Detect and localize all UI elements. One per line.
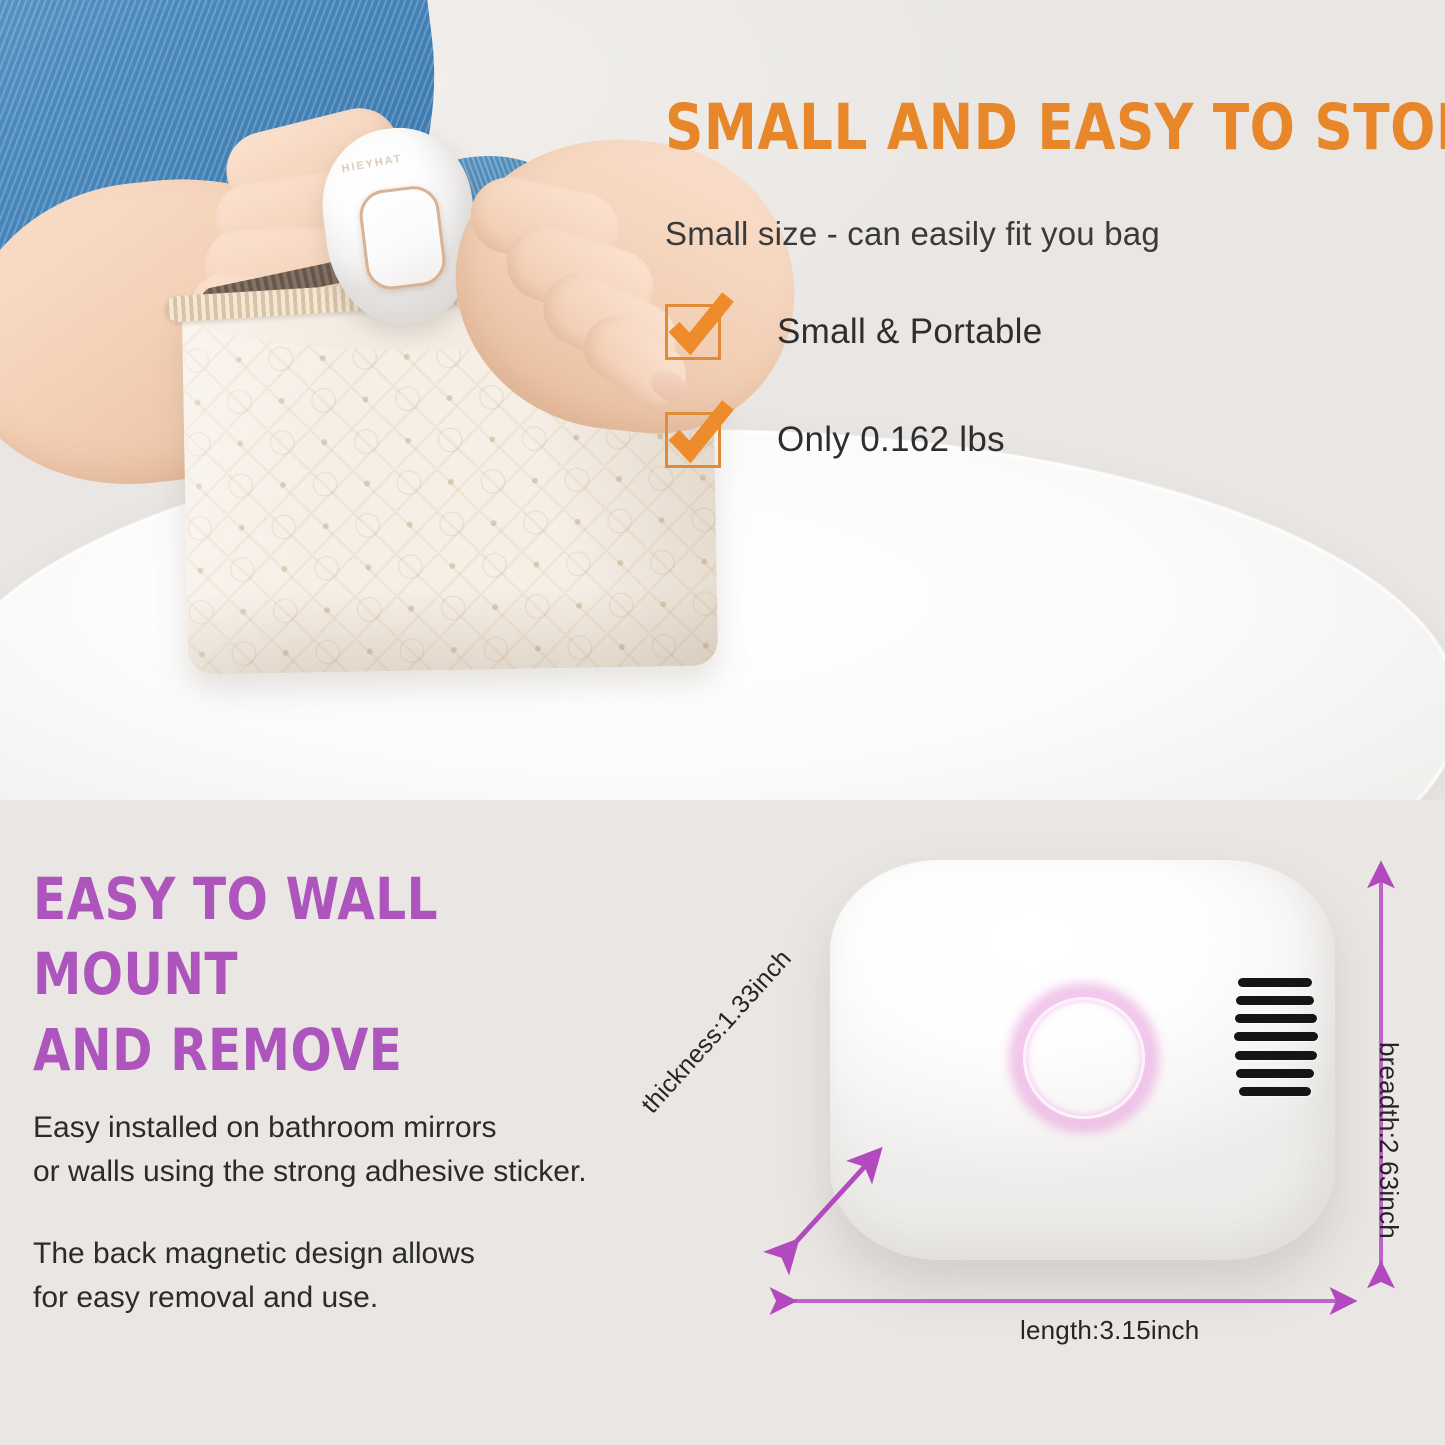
top-heading: SMALL AND EASY TO STORE [665, 95, 1379, 161]
bottom-heading: EASY TO WALL MOUNT AND REMOVE [33, 862, 647, 1088]
bottom-heading-line-1: EASY TO WALL MOUNT [33, 862, 647, 1013]
bottom-heading-line-2: AND REMOVE [33, 1013, 647, 1088]
checklist-item: Only 0.162 lbs [665, 409, 1425, 471]
vent-slot [1235, 1014, 1317, 1023]
vent-slot [1235, 1051, 1317, 1060]
vent-slot [1236, 1069, 1314, 1078]
paragraph-1-line-1: Easy installed on bathroom mirrors [33, 1106, 733, 1150]
top-text-block: SMALL AND EASY TO STORE Small size - can… [665, 95, 1425, 517]
checklist-item-label: Small & Portable [777, 312, 1042, 352]
top-section: HIEYHAT SMALL AND EASY TO STORE Small si… [0, 0, 1445, 800]
breadth-label: breadth:2.63inch [1373, 1042, 1404, 1239]
bottom-paragraph-2: The back magnetic design allows for easy… [33, 1232, 733, 1321]
length-label: length:3.15inch [1020, 1315, 1199, 1346]
checklist-item: Small & Portable [665, 301, 1425, 363]
vent-slot [1239, 1087, 1311, 1096]
thickness-label: thickness:1.33inch [636, 944, 798, 1119]
device-vent-grille [1234, 978, 1326, 1096]
checkbox-checked-icon [665, 304, 721, 360]
paragraph-2-line-2: for easy removal and use. [33, 1276, 733, 1320]
top-subheading: Small size - can easily fit you bag [665, 215, 1425, 253]
infographic-canvas: HIEYHAT SMALL AND EASY TO STORE Small si… [0, 0, 1445, 1445]
vent-slot [1234, 1032, 1318, 1041]
paragraph-1-line-2: or walls using the strong adhesive stick… [33, 1150, 733, 1194]
bottom-section: EASY TO WALL MOUNT AND REMOVE Easy insta… [0, 800, 1445, 1445]
vent-slot [1236, 996, 1314, 1005]
device-brand-label: HIEYHAT [341, 146, 442, 175]
paragraph-2-line-1: The back magnetic design allows [33, 1232, 733, 1276]
vent-slot [1238, 978, 1312, 987]
device-power-button [357, 183, 449, 292]
checkbox-checked-icon [665, 412, 721, 468]
checklist-item-label: Only 0.162 lbs [777, 420, 1005, 460]
feature-checklist: Small & Portable Only 0.162 lbs [665, 301, 1425, 471]
bottom-paragraph-1: Easy installed on bathroom mirrors or wa… [33, 1106, 733, 1195]
product-device-photo [830, 860, 1350, 1275]
device-led-ring-icon [1023, 997, 1145, 1119]
